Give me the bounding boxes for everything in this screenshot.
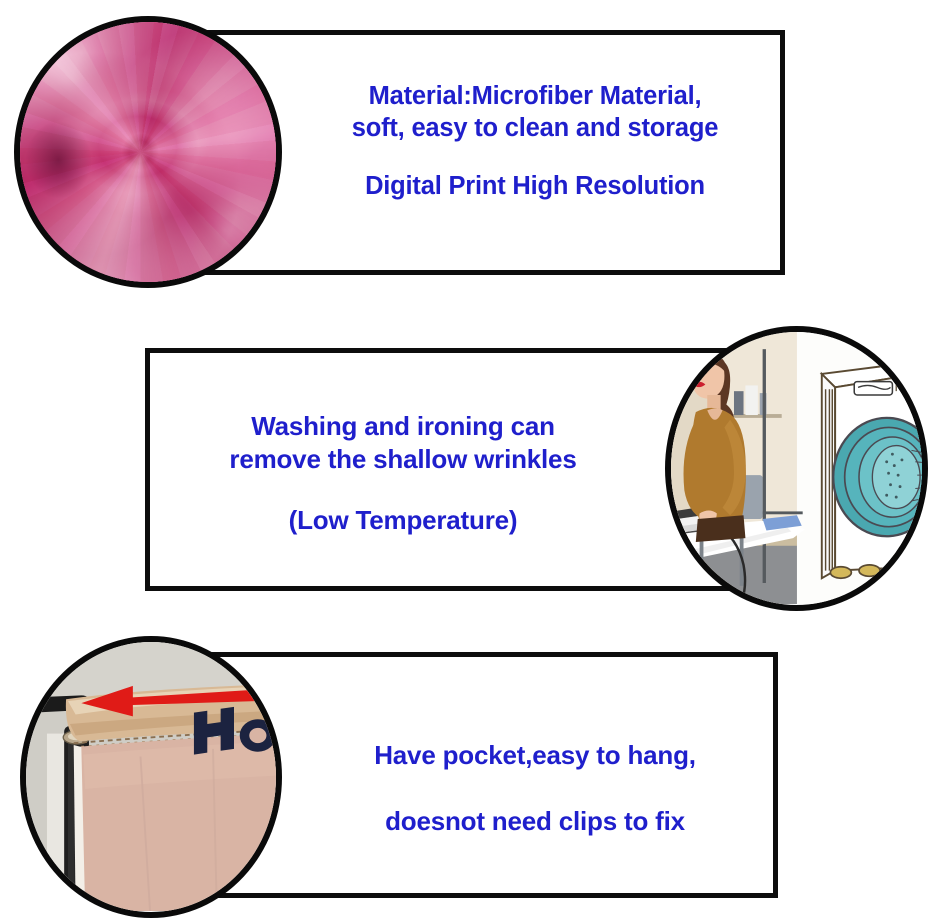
panel-care-text: Washing and ironing can remove the shall… — [168, 396, 638, 551]
panel-care-line-2: remove the shallow wrinkles — [229, 443, 576, 476]
fabric-shadow — [25, 121, 92, 199]
fabric-photo-circle — [14, 16, 282, 288]
panel-material-line-3: Digital Print High Resolution — [365, 170, 705, 202]
rod-pocket-curtain-on-black-rod-photo — [26, 642, 276, 911]
panel-care-line-3: (Low Temperature) — [289, 504, 518, 537]
panel-care-line-1: Washing and ironing can — [251, 410, 555, 443]
woman-ironing-and-washing-machine-illustration — [671, 332, 922, 604]
infographic-page: Material:Microfiber Material, soft, easy… — [0, 0, 933, 923]
pink-microfiber-fabric-swirl-photo — [20, 22, 276, 282]
panel-material-text: Material:Microfiber Material, soft, easy… — [300, 58, 770, 223]
rod-pocket-photo-circle — [20, 636, 282, 918]
panel-material-line-1: Material:Microfiber Material, — [369, 80, 702, 112]
panel-pocket-text: Have pocket,easy to hang, doesnot need c… — [300, 718, 770, 858]
panel-pocket-line-2: doesnot need clips to fix — [385, 804, 685, 838]
laundry-illustration-circle — [665, 326, 928, 611]
panel-pocket-line-1: Have pocket,easy to hang, — [374, 738, 696, 772]
panel-material-line-2: soft, easy to clean and storage — [352, 112, 719, 144]
